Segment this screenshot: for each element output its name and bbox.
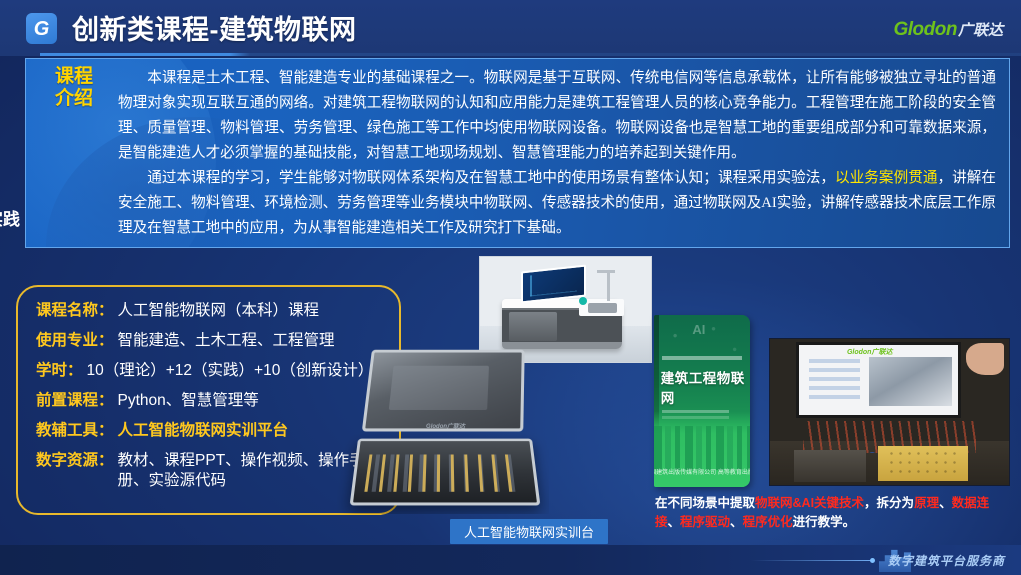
intro-label-line2: 介绍 xyxy=(38,88,110,110)
logo-letter: G xyxy=(34,19,50,39)
book-eyebrow-bar xyxy=(662,356,743,360)
intro-paragraph-1: 本课程是土木工程、智能建造专业的基础课程之一。物联网是基于互联网、传统电信网等信… xyxy=(118,66,996,166)
annotation-red-4: 程序驱动 xyxy=(680,515,730,529)
brand-wordmark: Glodon广联达 xyxy=(894,19,1004,41)
intro-label-line1: 课程 xyxy=(38,66,110,88)
footer-slogan: 数字建筑平台服务商 xyxy=(888,552,1005,569)
workstation-arm xyxy=(607,270,610,302)
glodon-logo-icon: G xyxy=(26,13,57,44)
annotation-part-1: 在不同场景中提取 xyxy=(655,496,755,510)
workstation-display-screen xyxy=(521,264,586,302)
lab-bench-photo: Glodon广联达 xyxy=(769,338,1010,486)
info-row: 前置课程： Python、智慧管理等 xyxy=(36,391,383,411)
info-row-key: 数字资源： xyxy=(36,451,114,471)
info-row: 学时： 10（理论）+12（实践）+10（创新设计） xyxy=(36,361,383,381)
annotation-part-2: ，拆分为 xyxy=(864,496,914,510)
workstation-caption: 人工智能物联网实训台 xyxy=(450,519,608,544)
suitcase-kit-photo: Glodon广联达 xyxy=(337,348,549,514)
annotation-part-3: 、 xyxy=(939,496,952,510)
info-row-value: 10（理论）+12（实践）+10（创新设计） xyxy=(83,361,374,381)
intro-p1-text: 本课程是土木工程、智能建造专业的基础课程之一。物联网是基于互联网、传统电信网等信… xyxy=(118,70,996,161)
workstation-photo xyxy=(479,256,652,363)
brand-name-en: Glodon xyxy=(894,19,957,40)
footer-node-icon xyxy=(870,558,875,563)
suitcase-brand-label: Glodon广联达 xyxy=(426,421,465,430)
intro-p2-highlight: 以业务案例贯通 xyxy=(835,170,937,186)
book-ai-label: AI xyxy=(692,322,705,337)
annotation-part-4: 、 xyxy=(668,515,681,529)
info-row: 课程名称： 人工智能物联网（本科）课程 xyxy=(36,301,383,321)
suitcase-components xyxy=(364,454,522,491)
lab-screen-brand: Glodon广联达 xyxy=(847,347,893,357)
info-row-key: 课程名称： xyxy=(36,301,114,321)
lab-breadboard xyxy=(878,446,969,481)
intro-label: 课程 介绍 xyxy=(38,66,110,111)
annotation-part-6: 进行教学。 xyxy=(793,515,856,529)
intro-p2-text-a: 通过本课程的学习，学生能够对物联网体系架构及在智慧工地中的使用场景有整体认知；课… xyxy=(147,170,835,186)
info-row: 数字资源： 教材、课程PPT、操作视频、操作手册、实验源代码 xyxy=(36,451,383,491)
info-row-key: 使用专业： xyxy=(36,331,114,351)
annotation-red-1: 物联网&AI关键技术 xyxy=(755,496,864,510)
brand-name-cn: 广联达 xyxy=(958,22,1003,39)
intro-paragraph-2: 通过本课程的学习，学生能够对物联网体系架构及在智慧工地中的使用场景有整体认知；课… xyxy=(118,166,996,241)
teaching-annotation: 在不同场景中提取物联网&AI关键技术，拆分为原理、数据连接、程序驱动、程序优化进… xyxy=(655,494,1013,532)
book-title: 建筑工程物联网 xyxy=(661,367,745,407)
annotation-part-5: 、 xyxy=(730,515,743,529)
textbook-cover-photo: AI 建筑工程物联网 中国建筑出版传媒有限公司 高等教育出版社 xyxy=(654,315,750,487)
info-row-key: 前置课程： xyxy=(36,391,114,411)
lab-hand xyxy=(966,343,1004,375)
suitcase-lid xyxy=(361,350,524,432)
lab-screen-text-blocks xyxy=(809,359,860,402)
annotation-red-2: 原理 xyxy=(914,496,939,510)
info-row-value: Python、智慧管理等 xyxy=(114,391,259,411)
lab-presentation-screen: Glodon广联达 xyxy=(796,342,961,418)
page-title: 创新类课程-建筑物联网 xyxy=(72,8,357,47)
info-row-key: 学时： xyxy=(36,361,83,381)
footer-connector-line xyxy=(751,560,871,561)
book-publisher: 中国建筑出版传媒有限公司 高等教育出版社 xyxy=(654,469,750,478)
page-header: G 创新类课程-建筑物联网 Glodon广联达 xyxy=(0,0,1021,56)
info-row-value: 人工智能物联网（本科）课程 xyxy=(114,301,320,321)
intro-body-text: 本课程是土木工程、智能建造专业的基础课程之一。物联网是基于互联网、传统电信网等信… xyxy=(118,66,996,241)
info-row: 教辅工具： 人工智能物联网实训平台 xyxy=(36,421,383,441)
lab-screen-diagram xyxy=(869,357,952,406)
info-row: 使用专业： 智能建造、土木工程、工程管理 xyxy=(36,331,383,351)
header-underline xyxy=(40,53,1021,56)
lab-device xyxy=(794,450,866,482)
info-row-value: 人工智能物联网实训平台 xyxy=(114,421,289,441)
clipped-edge-text: 实践 xyxy=(0,205,20,230)
info-row-key: 教辅工具： xyxy=(36,421,114,441)
info-row-value: 智能建造、土木工程、工程管理 xyxy=(114,331,335,351)
annotation-red-5: 程序优化 xyxy=(743,515,793,529)
